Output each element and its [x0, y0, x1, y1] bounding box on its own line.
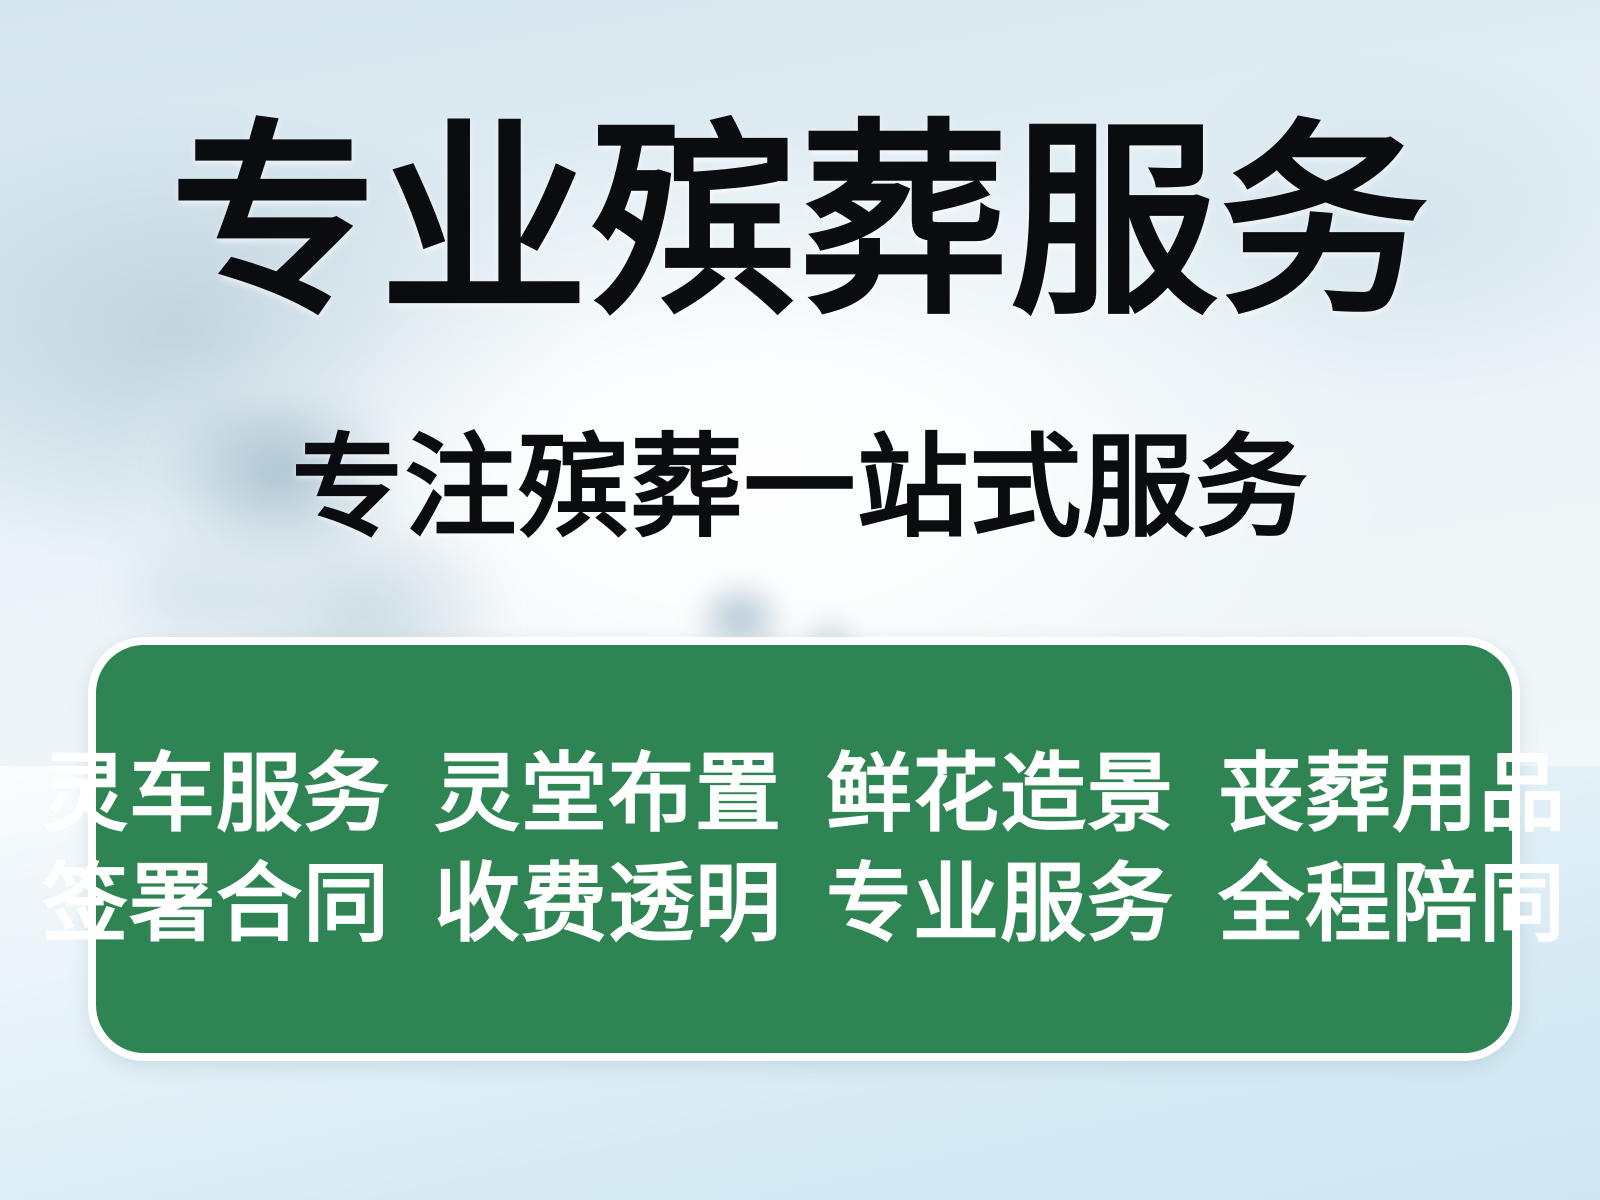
funeral-service-poster: 专业殡葬服务 专注殡葬一站式服务 灵车服务 灵堂布置 鲜花造景 丧葬用品 签署合…: [0, 0, 1600, 1200]
service-tag-lingche[interactable]: 灵车服务: [42, 751, 390, 837]
service-panel: 灵车服务 灵堂布置 鲜花造景 丧葬用品 签署合同 收费透明 专业服务 全程陪同: [96, 645, 1512, 1053]
service-row-1: 灵车服务 灵堂布置 鲜花造景 丧葬用品: [42, 751, 1566, 837]
page-subtitle: 专注殡葬一站式服务: [0, 432, 1600, 544]
service-tag-xianhua[interactable]: 鲜花造景: [826, 751, 1174, 837]
service-tag-sangzang-yongpin[interactable]: 丧葬用品: [1218, 751, 1566, 837]
service-tag-quancheng-peitong[interactable]: 全程陪同: [1218, 861, 1566, 947]
service-tag-lingtang[interactable]: 灵堂布置: [434, 751, 782, 837]
page-title: 专业殡葬服务: [0, 118, 1600, 326]
service-tag-shoufei-touming[interactable]: 收费透明: [434, 861, 782, 947]
service-tag-qianshu-hetong[interactable]: 签署合同: [42, 861, 390, 947]
service-row-2: 签署合同 收费透明 专业服务 全程陪同: [42, 861, 1566, 947]
service-tag-zhuanye-fuwu[interactable]: 专业服务: [826, 861, 1174, 947]
